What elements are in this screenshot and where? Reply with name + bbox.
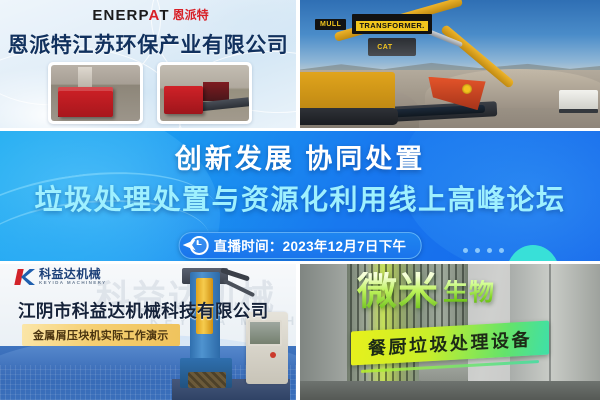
panel-separator-horizontal (0, 128, 600, 131)
panel-excavator[interactable]: CAT MULL TRANSFORMER. (299, 0, 600, 128)
keyida-k-icon (16, 268, 35, 286)
control-screen (248, 320, 282, 346)
panel-separator-vertical (296, 0, 300, 128)
banner-subtitle: 垃圾处理处置与资源化利用线上高峰论坛 (0, 178, 600, 218)
enerpat-photo-row (48, 62, 253, 124)
decorative-dots (463, 248, 504, 253)
pickup-truck (559, 90, 598, 110)
livestream-time-label: 直播时间：2023年12月7日下午 (214, 235, 407, 255)
enerpat-logo-cn: 恩派特 (173, 9, 209, 21)
keyida-logo-en: KEYIDA MACHINERY (39, 281, 107, 286)
mull-badge: MULL (315, 19, 346, 30)
panel-separator-horizontal (0, 261, 600, 264)
enerpat-logo: ENERPAT 恩派特 (93, 5, 208, 25)
cat-brand-label: CAT (377, 44, 392, 51)
equipment-floor (299, 381, 600, 400)
enerpat-wordmark: ENERPAT (92, 8, 169, 23)
brand-badge-group: MULL TRANSFORMER. (315, 14, 432, 34)
briquetting-press-photo (172, 266, 290, 400)
video-thumbnail-collage: ENERPAT 恩派特 恩派特江苏环保产业有限公司 (0, 0, 600, 400)
keyida-company-title: 江阴市科益达机械科技有限公司 (18, 298, 269, 323)
attachment-wheel (462, 84, 472, 94)
baler-dark-block (58, 101, 69, 117)
clock-icon (190, 236, 209, 255)
keyida-subtitle-tag: 金属屑压块机实际工作演示 (22, 324, 180, 346)
keyida-logo: 科益达机械 KEYIDA MACHINERY (16, 268, 107, 286)
panel-keyida[interactable]: 科益达机械 KEYIDA MACHINERY 科益达机械 KEYIDA MACH… (0, 264, 296, 400)
baler-rear-unit (203, 82, 230, 101)
weimi-title-group: 微米 生物 (357, 272, 495, 310)
weimi-title-main: 微米 (357, 272, 439, 310)
panel-forum-banner[interactable]: 创新发展 协同处置 垃圾处理处置与资源化利用线上高峰论坛 直播时间：2023年1… (0, 131, 600, 261)
keyida-logo-cn: 科益达机械 (39, 268, 107, 280)
control-button (270, 352, 276, 358)
livestream-time-pill: 直播时间：2023年12月7日下午 (179, 232, 422, 259)
baler-machine-photo-left (48, 62, 143, 124)
panel-weimi[interactable]: 微米 生物 餐厨垃圾处理设备 (299, 264, 600, 400)
baler-machine-photo-right (157, 62, 252, 124)
ribbon-icon (183, 240, 196, 251)
enerpat-company-title: 恩派特江苏环保产业有限公司 (0, 29, 296, 59)
metal-chips (188, 372, 226, 388)
panel-separator-vertical (296, 264, 300, 400)
transformer-badge: TRANSFORMER. (352, 14, 431, 34)
panel-enerpat[interactable]: ENERPAT 恩派特 恩派特江苏环保产业有限公司 (0, 0, 296, 128)
hydraulic-hose (223, 279, 255, 297)
equipment-left-wall (299, 264, 350, 400)
baler-slats (78, 91, 112, 113)
baler-slats (165, 90, 199, 112)
excavator-track (299, 108, 398, 126)
weimi-title-sub: 生物 (443, 280, 495, 310)
banner-headline: 创新发展 协同处置 (0, 137, 600, 176)
